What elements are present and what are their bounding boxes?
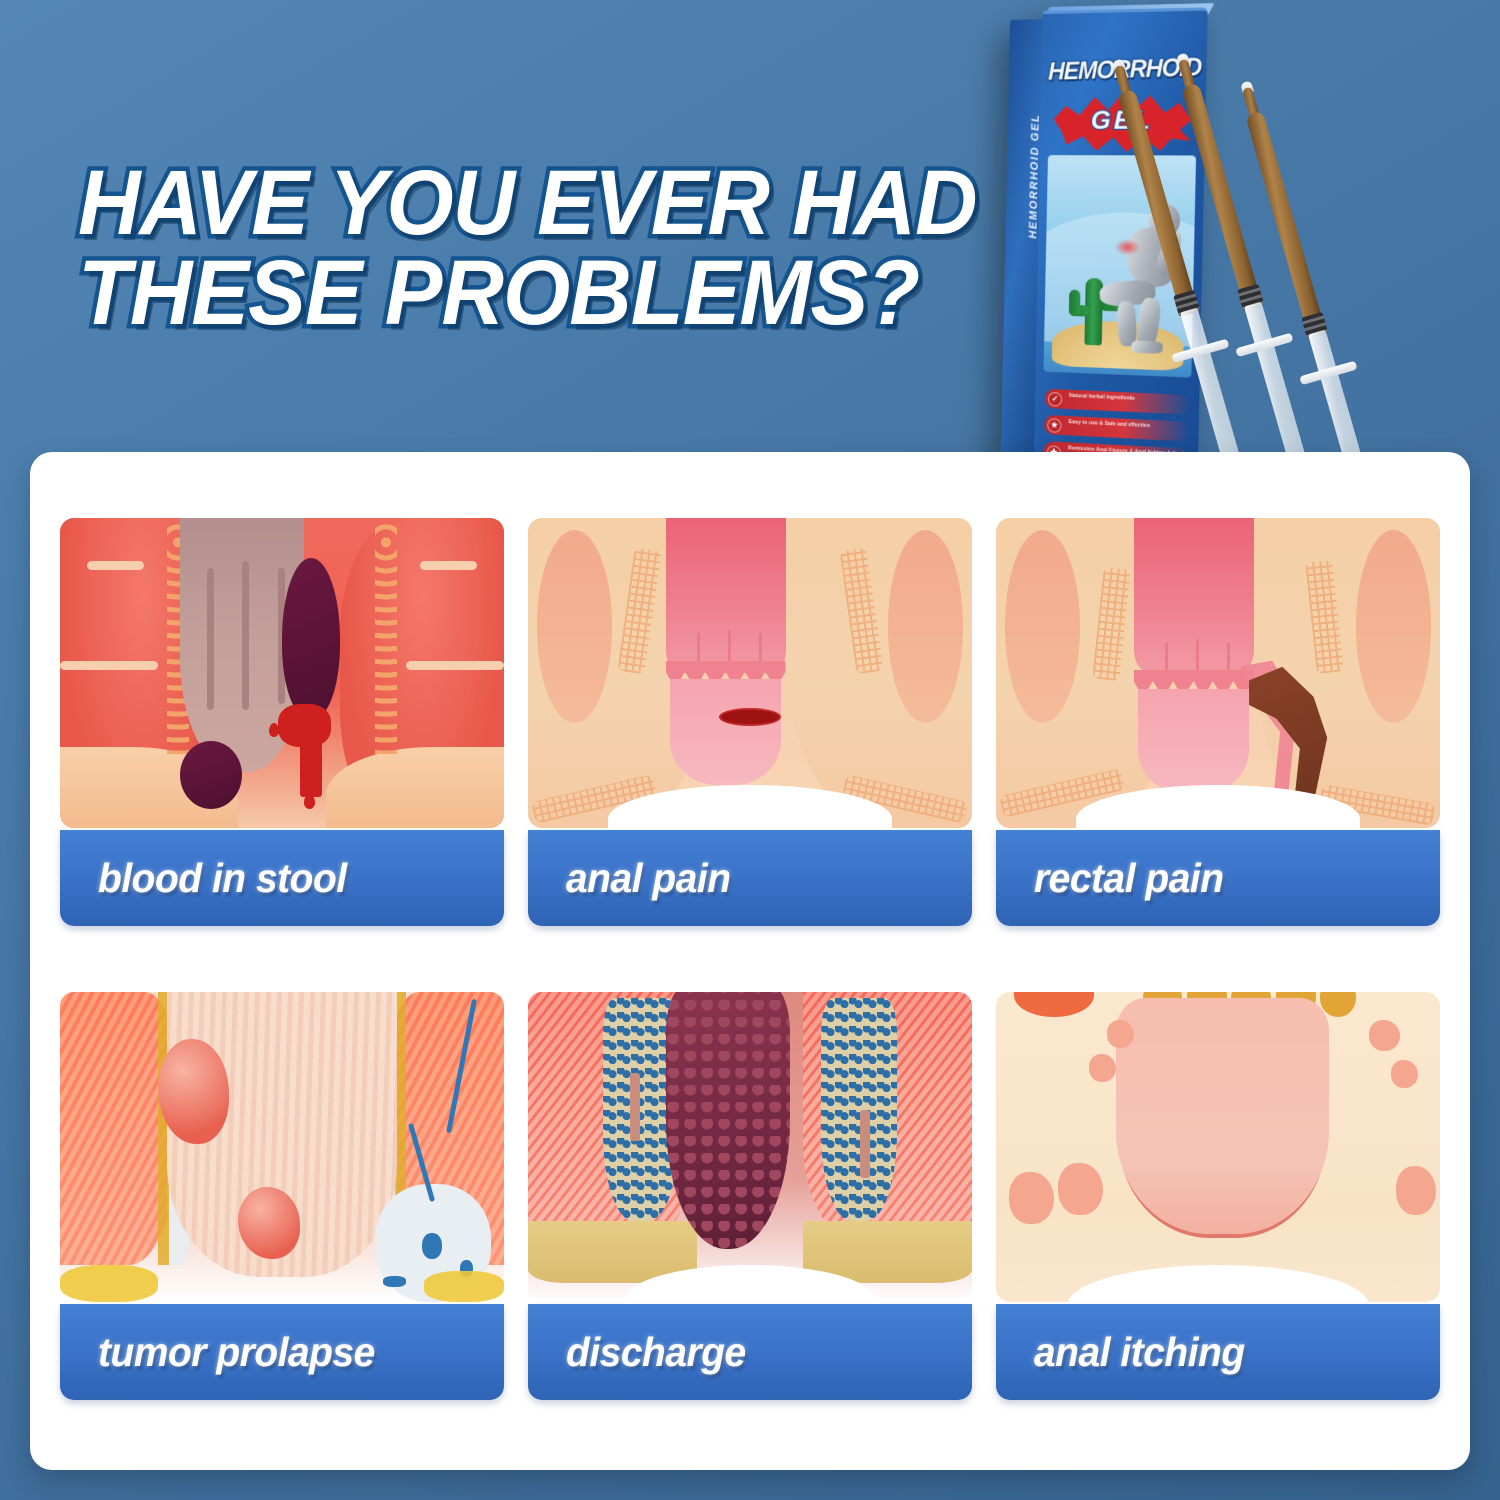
- skin-blob: [1391, 1060, 1418, 1088]
- rectum: [666, 518, 786, 673]
- discharge-mass-diagram: [528, 992, 972, 1302]
- tissue-seam: [87, 561, 145, 570]
- vein-lumen: [383, 1276, 406, 1287]
- prolapsed-tumor-diagram: [60, 992, 504, 1302]
- skin-blob: [1058, 1163, 1102, 1216]
- canal-ridge: [1196, 639, 1199, 673]
- anal-opening: [1116, 998, 1329, 1234]
- feature-item: ★ Easy to use & Safe and effective: [1044, 415, 1190, 442]
- canal-ridge: [1227, 642, 1230, 673]
- feature-text: Natural herbal ingredients: [1069, 393, 1135, 402]
- symptom-label-text: anal pain: [566, 855, 731, 902]
- symptom-label-text: anal itching: [1034, 1329, 1245, 1376]
- applicator-group: [1218, 18, 1468, 518]
- mucosal-fold: [207, 568, 214, 711]
- headline-line-2: THESE PROBLEMS?: [78, 248, 924, 338]
- symptom-label-text: tumor prolapse: [98, 1329, 375, 1376]
- hemorrhoid-mass-upper: [282, 558, 340, 719]
- tissue-cleft-right: [860, 1110, 870, 1178]
- page-headline: HAVE YOU EVER HAD THESE PROBLEMS?: [78, 158, 924, 338]
- rectum: [1134, 518, 1254, 673]
- anal-canal-lower: [670, 679, 781, 784]
- shield-icon: ★: [1047, 418, 1061, 433]
- symptom-label-bar: anal itching: [996, 1304, 1440, 1400]
- fissure-wound: [721, 710, 779, 724]
- symptom-cell[interactable]: discharge: [528, 992, 972, 1408]
- inner-tissue-left: [537, 530, 612, 722]
- skin-blob: [1396, 1166, 1436, 1216]
- symptom-illustration: [528, 992, 972, 1302]
- symptom-cell[interactable]: rectal pain: [996, 518, 1440, 934]
- symptom-cell[interactable]: tumor prolapse: [60, 992, 504, 1408]
- canal-ridge: [1165, 642, 1168, 673]
- check-icon: ✓: [1048, 391, 1062, 406]
- hemorrhoid-bleeding-diagram: [60, 518, 504, 828]
- symptom-label-bar: anal pain: [528, 830, 972, 926]
- hemorrhoid-mass-lower: [180, 741, 242, 809]
- skin-blob: [1369, 1020, 1400, 1051]
- cactus-arm-left-up: [1069, 290, 1081, 317]
- thinker-shin-back: [1116, 301, 1137, 347]
- symptom-cell[interactable]: anal pain: [528, 518, 972, 934]
- symptom-cell[interactable]: blood in stool: [60, 518, 504, 934]
- skin-blob: [1009, 1172, 1053, 1225]
- inner-tissue-right: [1356, 530, 1431, 722]
- anal-fistula-diagram: [996, 518, 1440, 828]
- symptom-illustration: [60, 518, 504, 828]
- feature-item: ✓ Natural herbal ingredients: [1045, 389, 1191, 415]
- symptom-label-text: rectal pain: [1034, 855, 1224, 902]
- symptom-illustration: [996, 518, 1440, 828]
- lower-cutout: [1067, 1265, 1369, 1302]
- symptom-illustration: [528, 518, 972, 828]
- symptom-illustration: [60, 992, 504, 1302]
- symptom-label-bar: tumor prolapse: [60, 1304, 504, 1400]
- anal-itching-diagram: [996, 992, 1440, 1302]
- tissue-seam: [60, 661, 158, 670]
- skin-blob: [1089, 1054, 1116, 1082]
- anal-canal-lower: [1138, 689, 1249, 794]
- skin-blob: [1107, 1020, 1134, 1048]
- prolapsed-mass: [666, 992, 790, 1249]
- fat-pad-left: [60, 1265, 158, 1302]
- symptom-label-text: blood in stool: [98, 855, 347, 902]
- anal-fissure-diagram: [528, 518, 972, 828]
- blood-drop: [304, 794, 315, 809]
- vascular-plexus-right: [821, 998, 896, 1221]
- fat-pad-right: [424, 1271, 504, 1302]
- tissue-seam: [420, 561, 478, 570]
- symptom-illustration: [996, 992, 1440, 1302]
- blood-drop: [269, 723, 279, 737]
- symptom-grid: blood in stool: [60, 518, 1440, 1408]
- inflamed-tissue: [1014, 992, 1094, 1017]
- symptom-label-text: discharge: [566, 1329, 746, 1376]
- mucosal-fold: [242, 561, 249, 710]
- symptom-label-bar: rectal pain: [996, 830, 1440, 926]
- amber-lobe: [1320, 992, 1356, 1017]
- symptom-card: blood in stool: [30, 452, 1470, 1470]
- tissue-seam: [406, 661, 504, 670]
- headline-line-1: HAVE YOU EVER HAD: [78, 158, 924, 248]
- sphincter-dots-right: [375, 524, 397, 753]
- symptom-label-bar: discharge: [528, 1304, 972, 1400]
- thinker-foot: [1131, 340, 1162, 353]
- blood-stream: [300, 741, 322, 797]
- inner-tissue-right: [888, 530, 963, 722]
- symptom-cell[interactable]: anal itching: [996, 992, 1440, 1408]
- symptom-label-bar: blood in stool: [60, 830, 504, 926]
- vein-lumen: [422, 1233, 442, 1259]
- tissue-cleft-left: [630, 1073, 640, 1141]
- inner-tissue-left: [1005, 530, 1080, 722]
- pain-highlight: [1115, 239, 1140, 256]
- feature-text: Easy to use & Safe and effective: [1069, 419, 1151, 429]
